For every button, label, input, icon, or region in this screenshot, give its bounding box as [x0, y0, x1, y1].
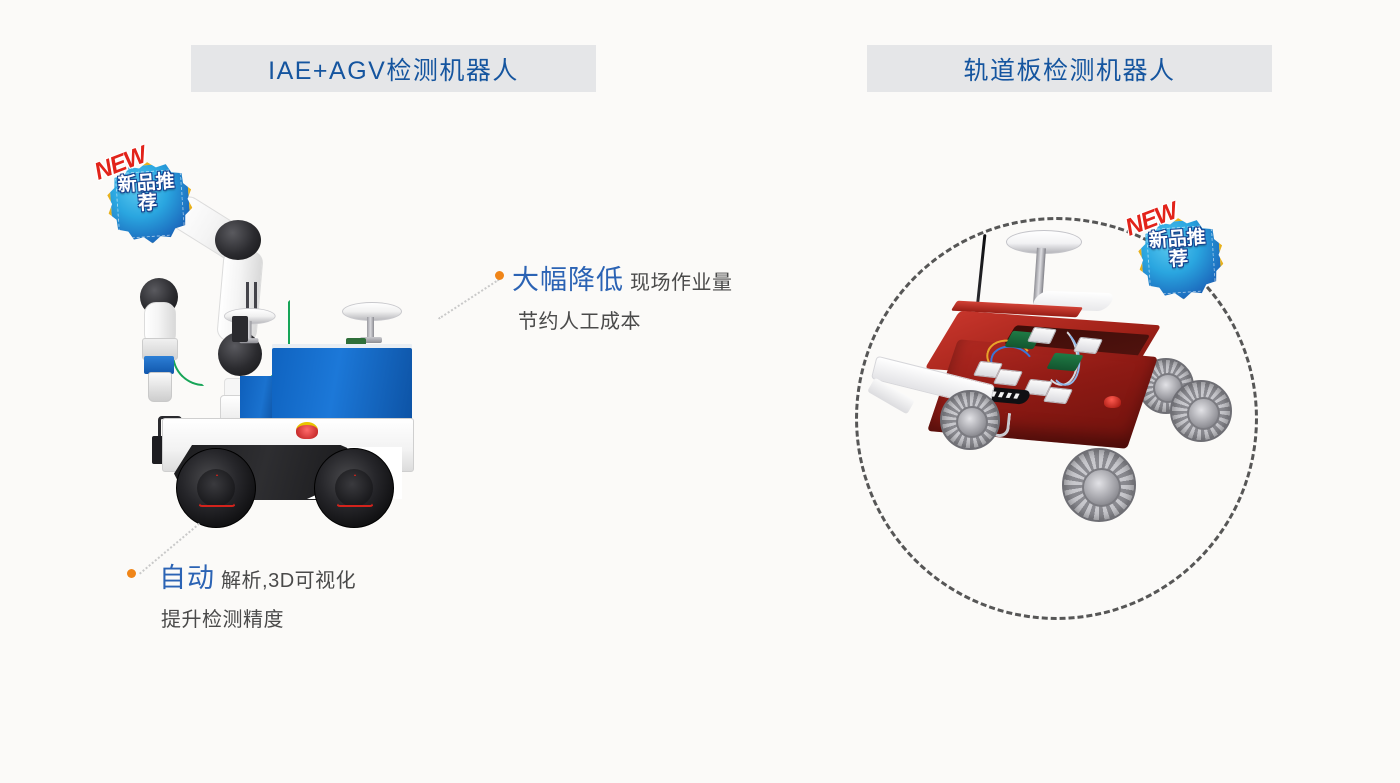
- emergency-stop-button[interactable]: [296, 422, 318, 439]
- callout-lower-bullet-icon: [127, 569, 136, 578]
- agv-payload-blue-box: [272, 348, 412, 424]
- callout-lower-rest: 解析,3D可视化: [215, 570, 356, 592]
- mecanum-wheel-front-left: [940, 390, 1000, 450]
- mecanum-wheel-rear-right: [1170, 380, 1232, 442]
- section-title-bar-track-slab: 轨道板检测机器人: [867, 45, 1272, 92]
- mecanum-wheel-front-right: [1062, 448, 1136, 522]
- section-title-bar-iae-agv: IAE+AGV检测机器人: [191, 45, 596, 92]
- callout-upper-highlight: 大幅降低: [512, 265, 624, 295]
- gps-antenna-stem: [367, 317, 374, 339]
- callout-lower-line2-text: 提升检测精度: [161, 609, 284, 631]
- new-product-badge-right: 新品推荐 NEW: [1129, 204, 1225, 300]
- arm-end-effector: [148, 372, 172, 402]
- callout-upper-line2-text: 节约人工成本: [518, 311, 641, 333]
- callout-upper-bullet-icon: [495, 271, 504, 280]
- callout-upper-text: 大幅降低 现场作业量 节约人工成本: [512, 258, 733, 334]
- new-product-badge-left: 新品推荐 NEW: [98, 148, 194, 244]
- arm-elbow-joint: [215, 220, 261, 260]
- sensor-control-box: [232, 316, 248, 342]
- agv-payload-step: [240, 376, 276, 424]
- callout-lower-highlight: 自动: [159, 563, 215, 593]
- product-image-track-slab-robot: [880, 270, 1240, 570]
- section-title-track-slab: 轨道板检测机器人: [963, 51, 1175, 87]
- callout-upper-line2: 节约人工成本: [512, 305, 733, 334]
- callout-upper-line1: 大幅降低 现场作业量: [512, 258, 733, 297]
- callout-lower-text: 自动 解析,3D可视化 提升检测精度: [159, 556, 356, 632]
- page-canvas: IAE+AGV检测机器人: [0, 0, 1400, 783]
- slab-power-button[interactable]: [1104, 396, 1121, 408]
- callout-lower-line2: 提升检测精度: [159, 603, 356, 632]
- section-title-iae-agv: IAE+AGV检测机器人: [268, 51, 519, 87]
- callout-upper-rest: 现场作业量: [624, 272, 733, 294]
- callout-lower-line1: 自动 解析,3D可视化: [159, 556, 356, 595]
